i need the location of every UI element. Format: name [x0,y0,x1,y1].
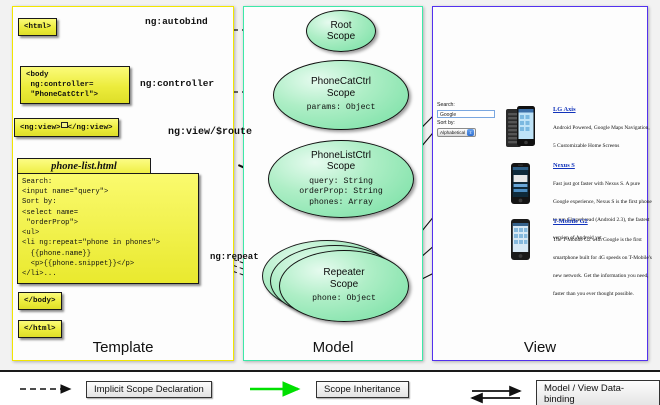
sort-label: Sort by: [437,120,499,128]
legend-label-model-view-data-binding: Model / View Data-binding [536,380,660,405]
phone-list-note-title: phone-list.html [17,158,151,173]
code-box-body-open: <body ng:controller= "PhoneCatCtrl"> [20,66,130,104]
phone-image-nexus-s [505,162,535,206]
scope-repeater-values: phone: Object [312,294,376,305]
diagram-root: Template <html> <body ng:controller= "Ph… [0,0,660,405]
scope-phonecatctrl-title-1: PhoneCatCtrl [311,76,371,88]
scope-root: Root Scope [306,10,376,52]
ngview-close-tag: </ng:view> [68,124,113,132]
sort-select[interactable]: Alphabetical ⇳ [437,128,476,137]
architecture-diagram: Template <html> <body ng:controller= "Ph… [0,0,660,370]
code-box-ngview: <ng:view></ng:view> [14,118,119,137]
legend: Implicit Scope Declaration Scope Inherit… [0,370,660,405]
legend-label-implicit-scope-declaration: Implicit Scope Declaration [86,381,212,398]
legend-item-model-view-data-binding: Model / View Data-binding [468,380,660,405]
edge-label-ng-view-route: ng:view/$route [168,127,252,138]
edge-label-ng-controller: ng:controller [140,78,214,89]
phone-description: The T-Mobile G2 with Google is the first… [553,237,652,297]
ngview-placeholder-square [61,122,68,128]
scope-phonelistctrl: PhoneListCtrl Scope query: String orderP… [268,140,414,218]
phone-name-link[interactable]: LG Axis [553,106,653,113]
scope-repeater-title-1: Repeater [323,267,364,279]
phone-text: LG Axis Android Powered, Google Maps Nav… [553,106,653,152]
phone-list-note: phone-list.html Search: <input name="que… [17,158,199,284]
search-form: Search: Google Sort by: Alphabetical ⇳ [437,102,499,137]
edge-label-ng-autobind: ng:autobind [145,16,208,27]
scope-phonelistctrl-values: query: String orderProp: String phones: … [299,177,383,209]
chevron-down-icon: ⇳ [467,129,474,136]
scope-phonelistctrl-title-2: Scope [327,161,355,173]
phone-text: T-Mobile G2 The T-Mobile G2 with Google … [553,218,653,300]
scope-phonelistctrl-title-1: PhoneListCtrl [311,150,371,162]
scope-phonecatctrl-title-2: Scope [327,88,355,100]
scope-phonecatctrl: PhoneCatCtrl Scope params: Object [273,60,409,130]
scope-phonecatctrl-values: params: Object [307,103,376,114]
double-arrow-icon [468,385,530,403]
sort-select-value: Alphabetical [440,130,465,135]
code-box-html-open: <html> [18,18,57,36]
phone-list-note-code: Search: <input name="query"> Sort by: <s… [17,173,199,284]
green-arrow-icon [248,380,310,398]
phone-image-lg-axis [505,106,535,150]
phone-image-t-mobile-g2 [505,218,535,262]
search-input[interactable]: Google [437,110,495,118]
scope-root-title-2: Scope [327,31,355,43]
model-column-label: Model [244,339,422,356]
phone-name-link[interactable]: T-Mobile G2 [553,218,653,225]
legend-item-scope-inheritance: Scope Inheritance [248,380,409,398]
legend-label-scope-inheritance: Scope Inheritance [316,381,409,398]
scope-root-title-1: Root [330,20,351,32]
phone-description: Android Powered, Google Maps Navigation,… [553,125,650,149]
code-box-body-close: </body> [18,292,62,310]
ngview-open-tag: <ng:view> [20,124,61,132]
scope-repeater-title-2: Scope [330,279,358,291]
legend-item-implicit-scope-declaration: Implicit Scope Declaration [18,380,212,398]
search-label: Search: [437,102,499,110]
template-column-label: Template [13,339,233,356]
dashed-arrow-icon [18,380,80,398]
phone-name-link[interactable]: Nexus S [553,162,653,169]
scope-repeater: Repeater Scope phone: Object [279,250,409,322]
edge-label-ng-repeat: ng:repeat [210,252,259,262]
view-column-label: View [433,339,647,356]
code-box-html-close: </html> [18,320,62,338]
